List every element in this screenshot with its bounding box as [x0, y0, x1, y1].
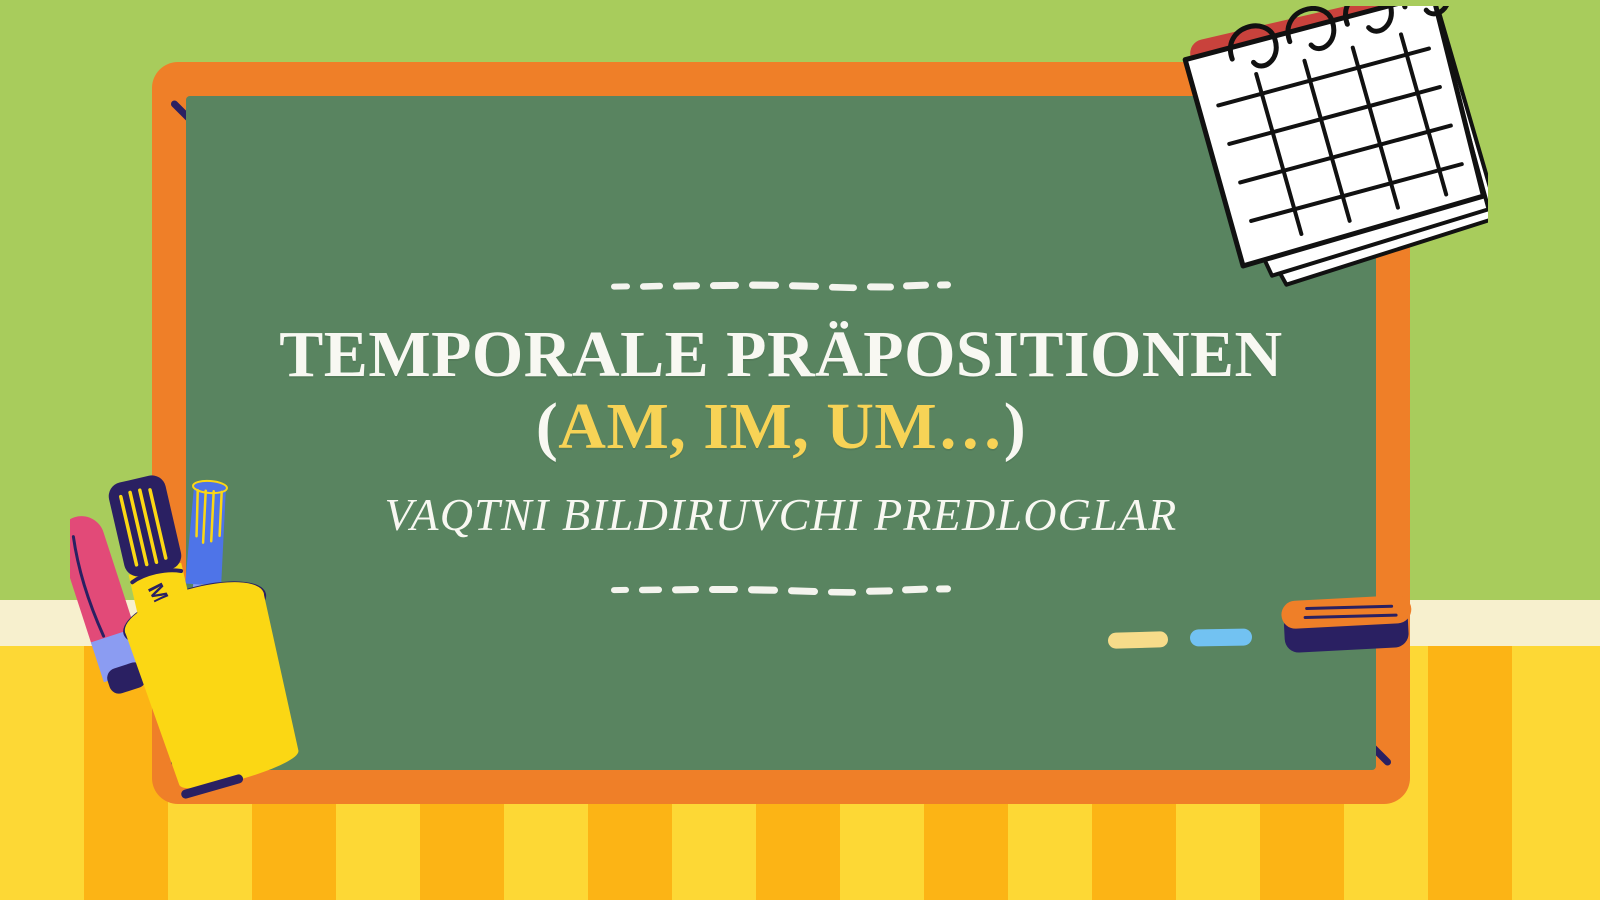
dashed-divider-top-icon [611, 277, 951, 293]
title-accent-terms: AM, IM, UM… [558, 390, 1003, 463]
calendar-icon [1148, 6, 1488, 296]
chalk-yellow-icon [1108, 631, 1168, 649]
dashed-divider-bottom-icon [611, 581, 951, 597]
title-paren-open: ( [536, 390, 558, 463]
chalk-blue-icon [1190, 628, 1252, 646]
title-line-1: TEMPORALE PRÄPOSITIONEN [279, 319, 1282, 390]
slide-subtitle: VAQTNI BILDIRUVCHI PREDLOGLAR [385, 488, 1178, 541]
floor-stripe [1428, 646, 1512, 900]
title-line-2: (AM, IM, UM…) [279, 391, 1282, 462]
board-eraser-icon [1281, 595, 1414, 654]
pen-cup-icon: MARKER [70, 452, 340, 812]
slide-canvas: TEMPORALE PRÄPOSITIONEN (AM, IM, UM…) VA… [0, 0, 1600, 900]
title-paren-close: ) [1004, 390, 1026, 463]
slide-title: TEMPORALE PRÄPOSITIONEN (AM, IM, UM…) [279, 319, 1282, 462]
